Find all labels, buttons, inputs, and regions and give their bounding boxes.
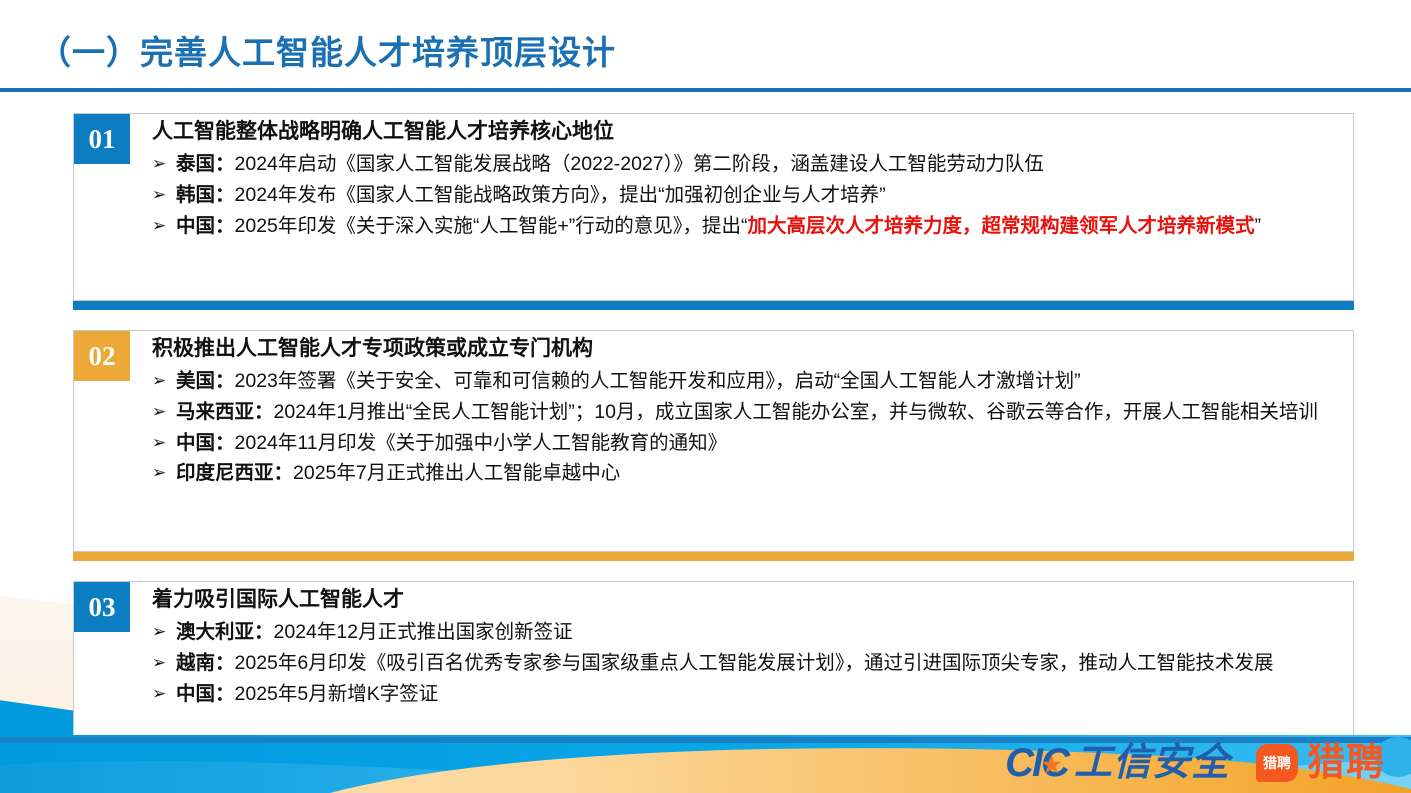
card-number-badge: 02 (74, 331, 130, 381)
liepin-bubble-icon: 猎聘 (1256, 744, 1298, 782)
bullet-highlight-text: 加大高层次人才培养力度，超常规构建领军人才培养新模式 (748, 215, 1255, 237)
bullet-country-label: 印度尼西亚： (176, 462, 293, 484)
bullet-text: 泰国：2024年启动《国家人工智能发展战略（2022-2027）》第二阶段，涵盖… (176, 150, 1339, 180)
card-accent-bar (73, 552, 1354, 561)
bullet-country-label: 中国： (176, 215, 235, 237)
bullet-item: ➢越南：2025年6月印发《吸引百名优秀专家参与国家级重点人工智能发展计划》，通… (152, 649, 1339, 679)
bullet-arrow-icon: ➢ (152, 367, 176, 395)
bullet-country-label: 中国： (176, 683, 235, 705)
bullet-arrow-icon: ➢ (152, 212, 176, 240)
bullet-tail-text: ” (1255, 215, 1262, 237)
bullet-country-label: 泰国： (176, 153, 235, 175)
liepin-logo: 猎聘 猎聘 (1256, 744, 1385, 782)
bullet-item: ➢印度尼西亚：2025年7月正式推出人工智能卓越中心 (152, 459, 1339, 489)
card-heading: 积极推出人工智能人才专项政策或成立专门机构 (152, 336, 1339, 362)
bullet-text: 澳大利亚：2024年12月正式推出国家创新签证 (176, 618, 1339, 648)
star-icon: ★ (1042, 756, 1059, 775)
bullet-country-label: 韩国： (176, 184, 235, 206)
bullet-arrow-icon: ➢ (152, 649, 176, 677)
bullet-list: ➢美国：2023年签署《关于安全、可靠和可信赖的人工智能开发和应用》，启动“全国… (152, 367, 1339, 489)
bullet-detail-text: 2024年发布《国家人工智能战略政策方向》，提出“加强初创企业与人才培养” (235, 184, 886, 206)
bullet-detail-text: 2023年签署《关于安全、可靠和可信赖的人工智能开发和应用》，启动“全国人工智能… (235, 370, 1081, 392)
card-gap (73, 310, 1354, 330)
page-title: （一）完善人工智能人才培养顶层设计 (38, 26, 616, 74)
bullet-text: 越南：2025年6月印发《吸引百名优秀专家参与国家级重点人工智能发展计划》，通过… (176, 649, 1339, 679)
bullet-list: ➢泰国：2024年启动《国家人工智能发展战略（2022-2027）》第二阶段，涵… (152, 150, 1339, 241)
card-content: 积极推出人工智能人才专项政策或成立专门机构➢美国：2023年签署《关于安全、可靠… (130, 331, 1353, 490)
cic-logo-name: 工信安全 (1074, 744, 1230, 782)
bullet-item: ➢澳大利亚：2024年12月正式推出国家创新签证 (152, 618, 1339, 648)
bullet-text: 马来西亚：2024年1月推出“全民人工智能计划”；10月，成立国家人工智能办公室… (176, 398, 1339, 428)
bullet-text: 中国：2024年11月印发《关于加强中小学人工智能教育的通知》 (176, 429, 1339, 459)
card-02: 02积极推出人工智能人才专项政策或成立专门机构➢美国：2023年签署《关于安全、… (73, 330, 1354, 581)
bullet-item: ➢马来西亚：2024年1月推出“全民人工智能计划”；10月，成立国家人工智能办公… (152, 398, 1339, 428)
bullet-text: 印度尼西亚：2025年7月正式推出人工智能卓越中心 (176, 459, 1339, 489)
cic-monogram-icon: CIC★ (1005, 743, 1068, 783)
bullet-item: ➢泰国：2024年启动《国家人工智能发展战略（2022-2027）》第二阶段，涵… (152, 150, 1339, 180)
card-inner: 02积极推出人工智能人才专项政策或成立专门机构➢美国：2023年签署《关于安全、… (74, 331, 1353, 490)
content-cards: 01人工智能整体战略明确人工智能人才培养核心地位➢泰国：2024年启动《国家人工… (73, 113, 1354, 751)
bullet-item: ➢中国：2024年11月印发《关于加强中小学人工智能教育的通知》 (152, 429, 1339, 459)
card-gap (73, 561, 1354, 581)
bullet-text: 韩国：2024年发布《国家人工智能战略政策方向》，提出“加强初创企业与人才培养” (176, 181, 1339, 211)
bullet-arrow-icon: ➢ (152, 618, 176, 646)
bullet-text: 美国：2023年签署《关于安全、可靠和可信赖的人工智能开发和应用》，启动“全国人… (176, 367, 1339, 397)
bullet-detail-text: 2024年启动《国家人工智能发展战略（2022-2027）》第二阶段，涵盖建设人… (235, 153, 1044, 175)
bullet-detail-text: 2024年1月推出“全民人工智能计划”；10月，成立国家人工智能办公室，并与微软… (274, 401, 1318, 423)
card-content: 着力吸引国际人工智能人才➢澳大利亚：2024年12月正式推出国家创新签证➢越南：… (130, 582, 1353, 710)
bullet-country-label: 马来西亚： (176, 401, 274, 423)
liepin-logo-name: 猎聘 (1307, 744, 1385, 782)
bullet-arrow-icon: ➢ (152, 398, 176, 426)
bullet-detail-text: 2024年12月正式推出国家创新签证 (274, 621, 573, 643)
bullet-country-label: 中国： (176, 432, 235, 454)
card-01: 01人工智能整体战略明确人工智能人才培养核心地位➢泰国：2024年启动《国家人工… (73, 113, 1354, 330)
bullet-detail-text: 2024年11月印发《关于加强中小学人工智能教育的通知》 (235, 432, 728, 454)
bullet-arrow-icon: ➢ (152, 150, 176, 178)
bullet-item: ➢中国：2025年印发《关于深入实施“人工智能+”行动的意见》，提出“加大高层次… (152, 212, 1339, 242)
card-inner: 03着力吸引国际人工智能人才➢澳大利亚：2024年12月正式推出国家创新签证➢越… (74, 582, 1353, 710)
card-03: 03着力吸引国际人工智能人才➢澳大利亚：2024年12月正式推出国家创新签证➢越… (73, 581, 1354, 751)
card-inner: 01人工智能整体战略明确人工智能人才培养核心地位➢泰国：2024年启动《国家人工… (74, 114, 1353, 242)
card-heading: 着力吸引国际人工智能人才 (152, 587, 1339, 613)
bullet-item: ➢韩国：2024年发布《国家人工智能战略政策方向》，提出“加强初创企业与人才培养… (152, 181, 1339, 211)
bullet-item: ➢中国：2025年5月新增K字签证 (152, 680, 1339, 710)
card-content: 人工智能整体战略明确人工智能人才培养核心地位➢泰国：2024年启动《国家人工智能… (130, 114, 1353, 242)
card-accent-bar (73, 301, 1354, 310)
title-divider (0, 88, 1411, 92)
bullet-detail-text: 2025年6月印发《吸引百名优秀专家参与国家级重点人工智能发展计划》，通过引进国… (235, 652, 1274, 674)
bullet-country-label: 越南： (176, 652, 235, 674)
bullet-country-label: 美国： (176, 370, 235, 392)
bullet-detail-text: 2025年5月新增K字签证 (235, 683, 439, 705)
bullet-text: 中国：2025年5月新增K字签证 (176, 680, 1339, 710)
slide-canvas: （一）完善人工智能人才培养顶层设计 01人工智能整体战略明确人工智能人才培养核心… (0, 0, 1411, 793)
footer-logos: CIC★ 工信安全 猎聘 猎聘 (1005, 737, 1385, 789)
card-body-03: 03着力吸引国际人工智能人才➢澳大利亚：2024年12月正式推出国家创新签证➢越… (73, 581, 1354, 751)
bullet-item: ➢美国：2023年签署《关于安全、可靠和可信赖的人工智能开发和应用》，启动“全国… (152, 367, 1339, 397)
bullet-detail-text: 2025年7月正式推出人工智能卓越中心 (293, 462, 620, 484)
bullet-arrow-icon: ➢ (152, 429, 176, 457)
bullet-country-label: 澳大利亚： (176, 621, 274, 643)
card-heading: 人工智能整体战略明确人工智能人才培养核心地位 (152, 119, 1339, 145)
card-number-badge: 01 (74, 114, 130, 164)
card-body-02: 02积极推出人工智能人才专项政策或成立专门机构➢美国：2023年签署《关于安全、… (73, 330, 1354, 552)
bullet-detail-text: 2025年印发《关于深入实施“人工智能+”行动的意见》，提出“ (235, 215, 748, 237)
card-number-badge: 03 (74, 582, 130, 632)
cic-logo: CIC★ 工信安全 (1005, 743, 1230, 783)
bullet-arrow-icon: ➢ (152, 680, 176, 708)
bullet-list: ➢澳大利亚：2024年12月正式推出国家创新签证➢越南：2025年6月印发《吸引… (152, 618, 1339, 709)
bullet-text: 中国：2025年印发《关于深入实施“人工智能+”行动的意见》，提出“加大高层次人… (176, 212, 1339, 242)
card-body-01: 01人工智能整体战略明确人工智能人才培养核心地位➢泰国：2024年启动《国家人工… (73, 113, 1354, 301)
bullet-arrow-icon: ➢ (152, 181, 176, 209)
bullet-arrow-icon: ➢ (152, 459, 176, 487)
